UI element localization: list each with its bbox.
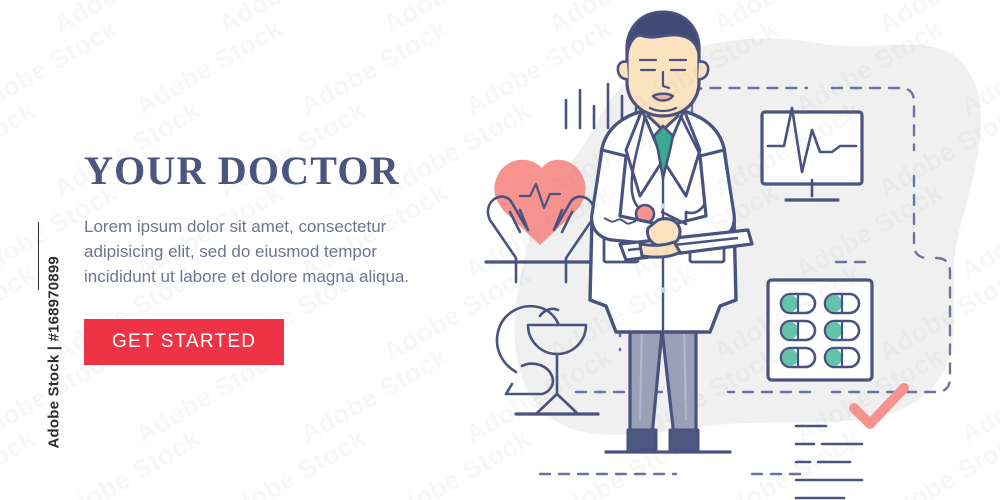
adobe-stock-sidebar: Adobe Stock | #168970899 [0, 0, 46, 500]
adobe-stock-id-label: Adobe Stock | #168970899 [46, 169, 63, 449]
banner-canvas: .ln { fill:none; stroke:#4a5280; stroke-… [0, 0, 1000, 500]
watermark-text: Adobe Stock [213, 423, 371, 500]
document-lines-icon [796, 426, 862, 498]
get-started-button[interactable]: GET STARTED [84, 319, 284, 365]
watermark-text: Adobe Stock [130, 13, 288, 122]
pill-blister-icon [768, 280, 872, 380]
watermark-text: Adobe Stock [295, 13, 453, 122]
watermark-text: Adobe Stock [213, 0, 371, 40]
page-title: YOUR DOCTOR [84, 150, 464, 192]
hero-copy: YOUR DOCTOR Lorem ipsum dolor sit amet, … [84, 150, 464, 365]
body-text: Lorem ipsum dolor sit amet, consectetur … [84, 214, 434, 289]
sidebar-divider [38, 222, 39, 290]
watermark-text: Adobe Stock [48, 423, 206, 500]
doctor-illustration: .ln { fill:none; stroke:#4a5280; stroke-… [480, 0, 1000, 500]
watermark-text: Adobe Stock [48, 0, 206, 40]
